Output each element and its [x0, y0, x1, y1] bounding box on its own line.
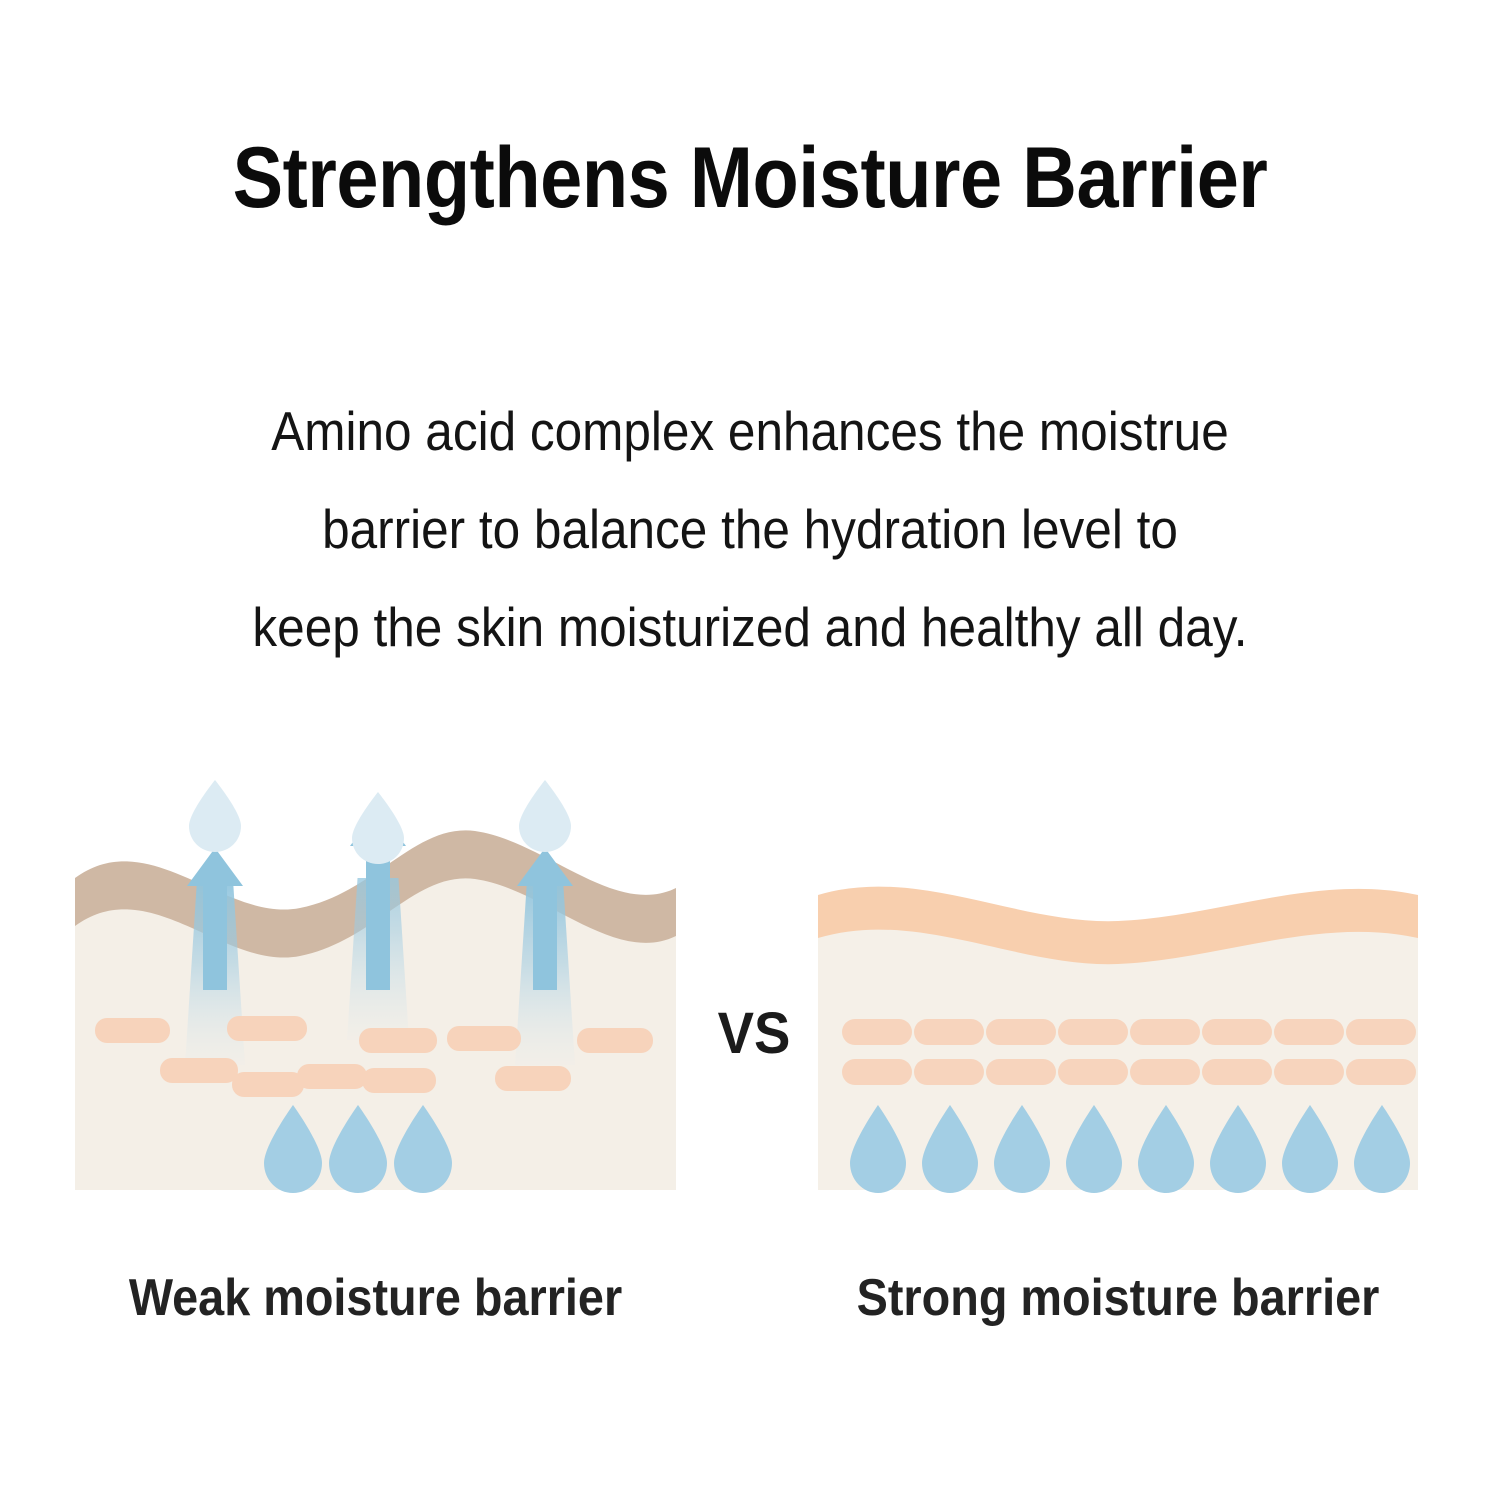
description-line-2: barrier to balance the hydration level t… [210, 480, 1290, 578]
lipid-cell [1346, 1019, 1416, 1045]
lipid-cell [577, 1028, 653, 1053]
page-title: Strengthens Moisture Barrier [90, 135, 1410, 221]
weak-barrier-diagram [75, 760, 676, 1220]
strong-barrier-svg [818, 760, 1418, 1220]
description-line-1: Amino acid complex enhances the moistrue [210, 382, 1290, 480]
weak-retained-droplets [264, 1105, 452, 1193]
lipid-cell [447, 1026, 521, 1051]
lipid-cell [914, 1059, 984, 1085]
strong-barrier-caption: Strong moisture barrier [848, 1268, 1388, 1328]
infographic-page: Strengthens Moisture Barrier Amino acid … [0, 0, 1500, 1500]
lipid-cell [842, 1019, 912, 1045]
lipid-cell [986, 1019, 1056, 1045]
lipid-cell [1202, 1059, 1272, 1085]
lipid-cell [495, 1066, 571, 1091]
lipid-cell [362, 1068, 436, 1093]
lipid-cell [297, 1064, 367, 1089]
lipid-cell [914, 1019, 984, 1045]
lipid-cell [1058, 1019, 1128, 1045]
lipid-cell [1130, 1059, 1200, 1085]
weak-barrier-svg [75, 760, 676, 1220]
lipid-cell [1274, 1019, 1344, 1045]
droplet-icon [352, 792, 404, 864]
lipid-cell [842, 1059, 912, 1085]
droplet-icon [519, 780, 571, 852]
description-line-3: keep the skin moisturized and healthy al… [210, 578, 1290, 676]
lipid-cell [227, 1016, 307, 1041]
lipid-cell [160, 1058, 238, 1083]
lipid-cell [1346, 1059, 1416, 1085]
lipid-cell [95, 1018, 170, 1043]
comparison-illustration [0, 760, 1500, 1220]
lipid-cell [232, 1072, 304, 1097]
lipid-cell [1202, 1019, 1272, 1045]
strong-barrier-diagram [818, 760, 1418, 1220]
versus-separator: VS [694, 1000, 814, 1067]
lipid-cell [1274, 1059, 1344, 1085]
droplet-icon [189, 780, 241, 852]
lipid-cell [986, 1059, 1056, 1085]
lipid-cell [1130, 1019, 1200, 1045]
description-text: Amino acid complex enhances the moistrue… [210, 382, 1290, 676]
lipid-cell [359, 1028, 437, 1053]
weak-barrier-caption: Weak moisture barrier [105, 1268, 646, 1328]
lipid-cell [1058, 1059, 1128, 1085]
